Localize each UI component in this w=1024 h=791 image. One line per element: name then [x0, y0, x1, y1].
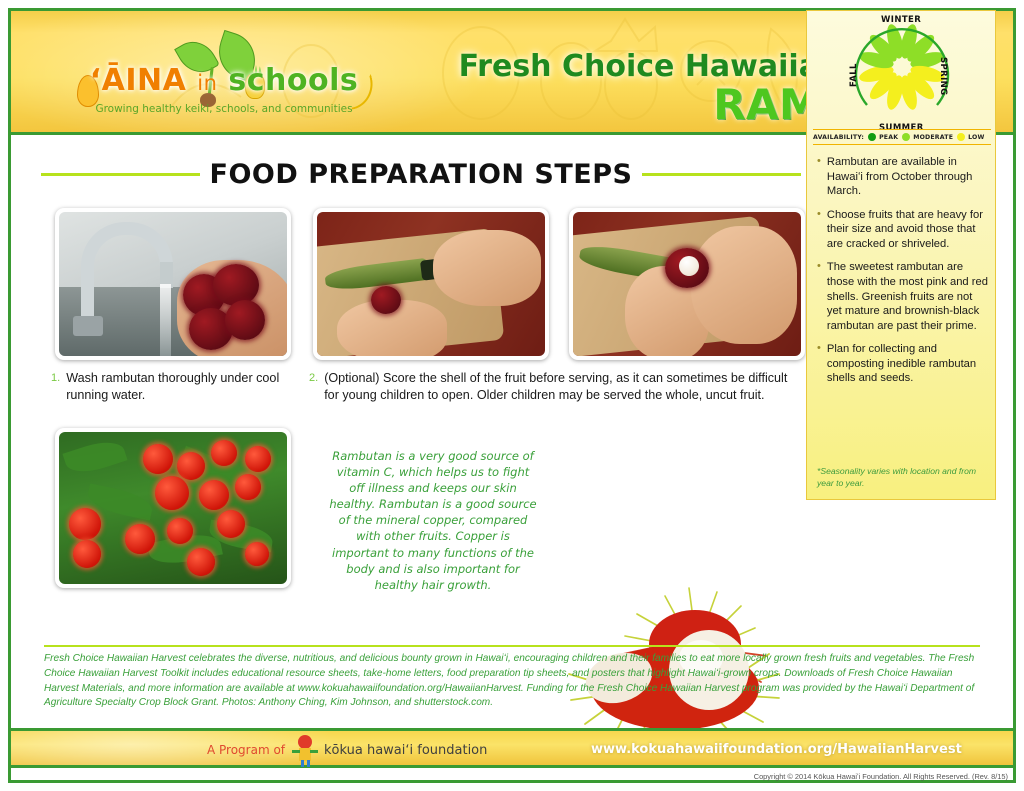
bullet-icon: •: [817, 260, 821, 333]
logo-wordmark: ʻĀINA in schools: [69, 63, 379, 98]
rambutan-fruit: [177, 452, 205, 480]
legend-label-low: LOW: [968, 134, 984, 141]
legend-item-low: LOW: [957, 133, 984, 141]
rambutan-fruit: [213, 264, 259, 306]
section-title: FOOD PREPARATION STEPS: [210, 159, 633, 190]
season-label-spring: SPRING: [938, 57, 948, 96]
rambutan-flesh: [679, 256, 699, 276]
figure-head: [298, 735, 312, 749]
tip-text: Plan for collecting and composting inedi…: [827, 342, 989, 386]
photo-rambutan-tree: [55, 428, 291, 588]
rule-left: [41, 173, 200, 176]
figure-leg-left: [301, 760, 304, 767]
tip-item: • Choose fruits that are heavy for their…: [817, 208, 989, 252]
rambutan-fruit: [235, 474, 261, 500]
kokua-keiki-icon: [292, 735, 318, 767]
tip-item: • The sweetest rambutan are those with t…: [817, 260, 989, 333]
aina-in-schools-logo: ʻĀINA in schools Growing healthy keiki, …: [69, 37, 379, 129]
step-text: Wash rambutan thoroughly under cool runn…: [66, 370, 301, 403]
bullet-icon: •: [817, 208, 821, 252]
rambutan-fruit: [167, 518, 193, 544]
step-item: 2. (Optional) Score the shell of the fru…: [309, 370, 791, 403]
bottom-bar: A Program of kōkua hawaiʻi foundation ww…: [11, 728, 1013, 768]
rambutan-fruit: [245, 542, 269, 566]
legend-dot-moderate: [902, 133, 910, 141]
step-text: (Optional) Score the shell of the fruit …: [324, 370, 791, 403]
tip-text: The sweetest rambutan are those with the…: [827, 260, 989, 333]
legend-label-peak: PEAK: [879, 134, 898, 141]
bullet-icon: •: [817, 342, 821, 386]
season-label-winter: WINTER: [881, 15, 921, 25]
rule-right: [642, 173, 801, 176]
tip-text: Choose fruits that are heavy for their s…: [827, 208, 989, 252]
rambutan-fruit: [245, 446, 271, 472]
season-label-fall: FALL: [849, 63, 859, 87]
faucet-stem: [81, 264, 94, 324]
tip-item: • Plan for collecting and composting ine…: [817, 342, 989, 386]
rambutan-fruit: [69, 508, 101, 540]
copyright-line: Copyright © 2014 Kōkua Hawaiʻi Foundatio…: [754, 772, 1008, 781]
footer-paragraph: Fresh Choice Hawaiian Harvest celebrates…: [44, 652, 984, 711]
availability-label: AVAILABILITY:: [813, 134, 864, 141]
footer-url-link[interactable]: www.kokuahawaiifoundation.org/HawaiianHa…: [591, 742, 962, 757]
nutrition-note: Rambutan is a very good source of vitami…: [329, 448, 537, 593]
rambutan-fruit: [371, 286, 401, 314]
logo-brand-prefix: ʻĀINA: [90, 63, 187, 98]
tip-text: Rambutan are available in Hawaiʻi from O…: [827, 155, 989, 199]
program-of-label: A Program of: [207, 743, 285, 757]
rambutan-fruit: [225, 300, 265, 340]
seasonality-wheel-block: WINTER SPRING SUMMER FALL: [807, 11, 997, 141]
faucet-base: [73, 316, 103, 336]
kokua-foundation-name: kōkua hawaiʻi foundation: [324, 743, 487, 758]
poster-page: ʻĀINA in schools Growing healthy keiki, …: [0, 0, 1024, 791]
figure-arm-right: [310, 750, 318, 753]
hand-holding-knife: [433, 230, 541, 306]
legend-dot-low: [957, 133, 965, 141]
water-stream: [160, 284, 171, 356]
photo-washing-rambutan: [55, 208, 291, 360]
rambutan-fruit: [217, 510, 245, 538]
logo-brand-suffix: schools: [228, 63, 358, 98]
rambutan-fruit: [73, 540, 101, 568]
section-header: FOOD PREPARATION STEPS: [41, 156, 801, 192]
rambutan-fruit: [125, 524, 155, 554]
legend-dot-peak: [868, 133, 876, 141]
footer-divider: [44, 645, 980, 647]
tip-item: • Rambutan are available in Hawaiʻi from…: [817, 155, 989, 199]
rambutan-fruit: [155, 476, 189, 510]
legend-item-peak: PEAK: [868, 133, 898, 141]
step-number: 1.: [51, 370, 60, 403]
rambutan-fruit: [211, 440, 237, 466]
photo-scoring-rambutan: [313, 208, 549, 360]
legend-item-moderate: MODERATE: [902, 133, 953, 141]
step-item: 1. Wash rambutan thoroughly under cool r…: [51, 370, 301, 403]
figure-arm-left: [292, 750, 300, 753]
seasonality-disclaimer: *Seasonality varies with location and fr…: [817, 466, 985, 489]
logo-tagline: Growing healthy keiki, schools, and comm…: [69, 103, 379, 115]
selection-tips-list: • Rambutan are available in Hawaiʻi from…: [817, 155, 989, 395]
bullet-icon: •: [817, 155, 821, 199]
photo-opening-rambutan: [569, 208, 805, 360]
hand-right: [691, 226, 797, 344]
figure-leg-right: [307, 760, 310, 767]
legend-label-moderate: MODERATE: [913, 134, 953, 141]
step-number: 2.: [309, 370, 318, 403]
seasonality-sidebar: WINTER SPRING SUMMER FALL AVAILABILITY: …: [806, 10, 996, 500]
rambutan-fruit: [143, 444, 173, 474]
logo-brand-in: in: [197, 71, 217, 95]
rambutan-fruit: [199, 480, 229, 510]
rambutan-fruit: [187, 548, 215, 576]
availability-legend: AVAILABILITY: PEAK MODERATE LOW: [813, 129, 991, 145]
